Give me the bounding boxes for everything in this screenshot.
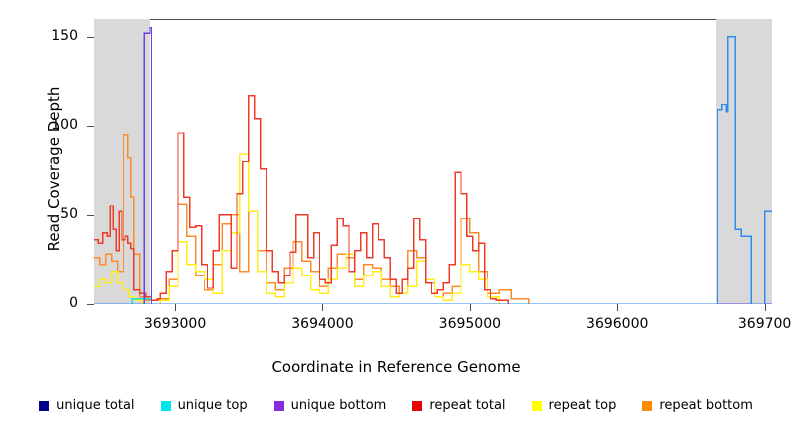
legend-item: unique top [161, 398, 248, 413]
legend-label: repeat total [429, 398, 505, 413]
y-tick-mark [87, 126, 94, 127]
y-tick-label: 150 [32, 29, 78, 43]
square-swatch [642, 401, 652, 411]
y-tick-label: 100 [32, 118, 78, 132]
y-tick-mark [87, 215, 94, 216]
x-tick-label: 3693000 [144, 316, 206, 332]
y-tick-mark [87, 37, 94, 38]
legend: unique totalunique topunique bottomrepea… [0, 398, 792, 413]
legend-label: unique total [56, 398, 134, 413]
y-tick-mark [87, 304, 94, 305]
square-swatch [39, 401, 49, 411]
legend-label: unique top [178, 398, 248, 413]
left-repeat-region [94, 19, 150, 304]
x-tick-label: 3695000 [439, 316, 501, 332]
series-canvas [94, 19, 772, 304]
x-tick-mark [765, 304, 766, 311]
y-tick-label: 50 [32, 207, 78, 221]
x-tick-mark [175, 304, 176, 311]
legend-item: repeat total [412, 398, 505, 413]
series-line-unique-top [94, 299, 772, 304]
x-tick-label: 369700 [738, 316, 791, 332]
legend-label: repeat top [549, 398, 617, 413]
series-line-repeat-top [94, 154, 772, 304]
coverage-plot-figure: Read Coverage Depth 050100150 3693000369… [0, 0, 792, 432]
square-swatch [532, 401, 542, 411]
square-swatch [161, 401, 171, 411]
legend-label: repeat bottom [659, 398, 753, 413]
x-axis-title: Coordinate in Reference Genome [0, 358, 792, 376]
x-tick-mark [617, 304, 618, 311]
legend-item: repeat bottom [642, 398, 753, 413]
plot-area [94, 19, 772, 304]
legend-item: unique bottom [274, 398, 387, 413]
x-tick-label: 3696000 [586, 316, 648, 332]
x-tick-label: 3694000 [291, 316, 353, 332]
x-tick-mark [322, 304, 323, 311]
square-swatch [274, 401, 284, 411]
legend-item: unique total [39, 398, 134, 413]
legend-item: repeat top [532, 398, 617, 413]
y-tick-label: 0 [32, 296, 78, 310]
square-swatch [412, 401, 422, 411]
right-repeat-region [716, 19, 772, 304]
x-tick-mark [470, 304, 471, 311]
legend-label: unique bottom [291, 398, 387, 413]
